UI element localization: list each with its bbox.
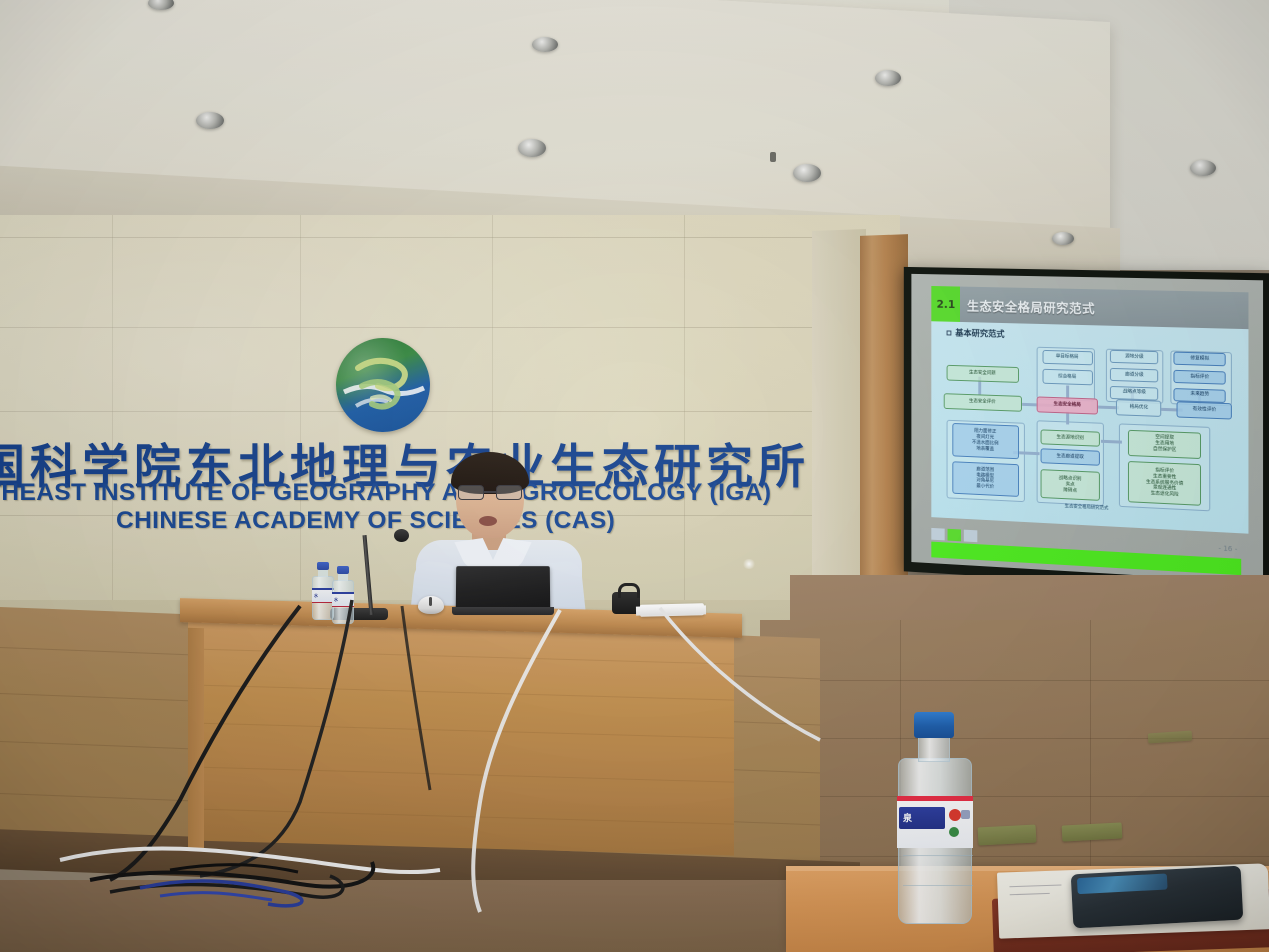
microphone-head-icon [394, 529, 409, 542]
presenter-mouth [479, 516, 497, 526]
downlight-icon [196, 112, 224, 129]
slide-bottom-accent-bar [932, 542, 1241, 576]
bottle-neck [918, 736, 950, 762]
laptop[interactable] [452, 566, 554, 616]
node-future-trend: 未来趋势 [1174, 388, 1226, 403]
laptop-base [452, 607, 554, 615]
slide-title-bar: 2.1 生态安全格局研究范式 [932, 286, 1249, 330]
paper-sheet [636, 605, 706, 615]
glasses-icon [458, 485, 522, 500]
bottle-brand-band: 泉 [899, 807, 945, 829]
water-bottle: 水 [312, 562, 334, 620]
screen-surface: 2.1 生态安全格局研究范式 基本研究范式 [911, 274, 1263, 583]
sprinkler-icon [770, 152, 776, 162]
node-indicator-evaluation-top: 指标评价 [1174, 370, 1226, 385]
computer-mouse[interactable] [418, 596, 444, 614]
node-corridor-grading: 廊道分级 [1110, 368, 1158, 382]
node-effectiveness-evaluation: 有效性评价 [1177, 401, 1232, 419]
smartphone[interactable] [1071, 866, 1244, 929]
lecture-hall-photo: 国科学院东北地理与农业生态研究所 THEAST INSTITUTE OF GEO… [0, 0, 1269, 952]
node-single-objective-pattern: 单目标格局 [1042, 350, 1092, 366]
node-strategic-point-grading: 战略点等级 [1110, 386, 1158, 401]
arrow-source-to-space [1101, 440, 1122, 444]
desk-front-panel [188, 618, 734, 855]
slide-footer-squares [932, 528, 978, 542]
presentation-slide: 2.1 生态安全格局研究范式 基本研究范式 [932, 286, 1249, 534]
node-comprehensive-pattern: 综合格局 [1042, 369, 1092, 385]
downlight-icon [1190, 160, 1216, 176]
lower-floor [0, 880, 900, 952]
node-eco-security-evaluation: 生态安全评价 [943, 393, 1021, 412]
slide-subtitle-text: 基本研究范式 [955, 329, 1004, 340]
node-corridor-range: 廊道范围 电路模型 对角基尼 最小代价 [952, 461, 1019, 497]
bottle-label: 泉 [897, 796, 973, 848]
footer-square-3[interactable] [964, 530, 977, 543]
flow-diagram: 生态安全问题 生态安全评价 生态安全格局 单目标格局 综合格局 源地分级 廊道分… [941, 344, 1239, 516]
node-eco-security-problem: 生态安全问题 [946, 364, 1018, 382]
slide-title: 生态安全格局研究范式 [967, 295, 1095, 317]
node-eco-corridor-extraction: 生态廊道提取 [1041, 449, 1100, 466]
node-resistance-surface-correction: 阻力面修正 夜间灯光 不透水面比例 地表覆盖 [952, 423, 1019, 459]
projector-screen[interactable]: 2.1 生态安全格局研究范式 基本研究范式 [904, 267, 1269, 593]
slide-number-badge: 2.1 [932, 286, 961, 323]
water-bottle: 泉 [896, 712, 974, 924]
iga-cas-globe-logo [336, 338, 430, 432]
footer-square-2[interactable] [948, 529, 961, 542]
desk-left-panel [188, 628, 204, 850]
downlight-icon [532, 37, 558, 52]
footer-square-1[interactable] [932, 528, 945, 540]
node-pattern-optimization: 格局优化 [1116, 399, 1161, 417]
slide-page-number: - 16 - [1218, 545, 1237, 554]
laptop-lid [456, 566, 550, 610]
bullet-square-icon [947, 331, 952, 336]
node-indicator-evaluation-bottom: 指标评价 生态重要性 生态系统服务价值 景观连通性 生态退化风险 [1128, 461, 1201, 507]
slide-subtitle: 基本研究范式 [947, 327, 1005, 340]
node-source-grading: 源地分级 [1110, 350, 1158, 364]
downlight-icon [1052, 232, 1074, 245]
arrow-pattern-down [1066, 411, 1069, 424]
downlight-icon [793, 164, 821, 182]
node-eco-security-pattern: 生态安全格局 [1036, 396, 1098, 414]
institute-name-english-line1: THEAST INSTITUTE OF GEOGRAPHY AND AGROEC… [0, 479, 786, 507]
water-bottle: 水 [332, 566, 354, 624]
floor-marker-tile [1062, 822, 1123, 841]
floor-marker-tile [978, 824, 1037, 845]
node-strategic-point-identification: 战略点识别 夹点 障碍点 [1041, 469, 1100, 501]
node-restoration-simulation: 修复模拟 [1174, 352, 1226, 367]
downlight-icon [875, 70, 901, 86]
phone-screen [1077, 873, 1168, 894]
node-spatial-extraction: 空间提取 生态用地 自然保护区 [1128, 430, 1201, 459]
downlight-icon [518, 139, 546, 157]
node-eco-source-identification: 生态源地识别 [1041, 430, 1100, 447]
presenter-desk [180, 606, 742, 856]
bottle-cap [914, 712, 954, 738]
